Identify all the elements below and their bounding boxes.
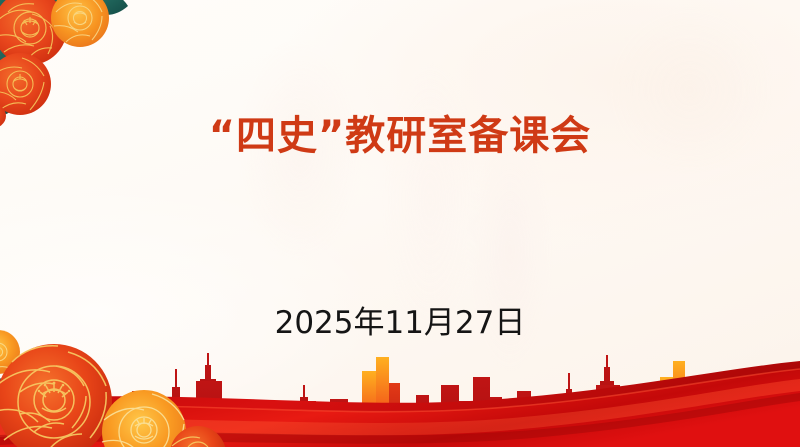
page-title: “四史”教研室备课会 — [0, 113, 800, 159]
red-ribbon-drape — [0, 357, 800, 447]
slide-date: 2025年11月27日 — [0, 297, 800, 342]
city-skyline-icon — [0, 327, 800, 447]
peony-flower-bottom-left-icon — [0, 330, 232, 447]
skyline-glow — [0, 327, 800, 447]
background-texture — [0, 0, 800, 447]
presentation-slide: “四史”教研室备课会 2025年11月27日 — [0, 0, 800, 447]
bottom-decoration — [0, 327, 800, 447]
